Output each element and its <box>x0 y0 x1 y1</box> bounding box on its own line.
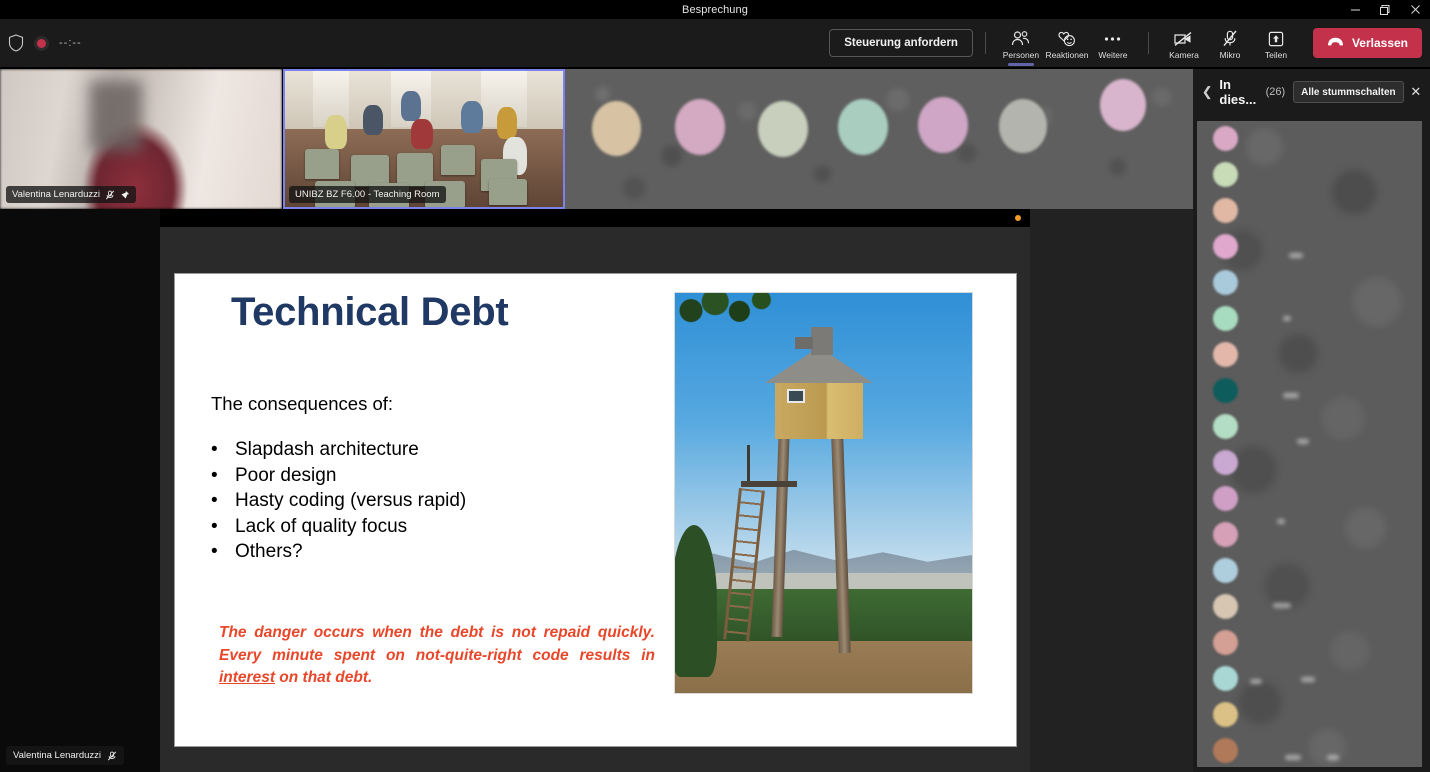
avatar <box>1213 198 1238 223</box>
list-item[interactable] <box>1197 445 1422 481</box>
list-item[interactable] <box>1197 301 1422 337</box>
people-panel-header: ❮ In dies... (26) Alle stummschalten ✕ <box>1193 69 1430 115</box>
share-screen-icon <box>1268 30 1284 48</box>
toolbar-item-reaktionen[interactable]: Reaktionen <box>1044 27 1090 60</box>
stage-right-gutter <box>1030 209 1193 772</box>
list-item: •Others? <box>211 539 466 565</box>
toolbar-item-label: Weitere <box>1098 50 1127 60</box>
toolbar-item-mikro[interactable]: Mikro <box>1207 27 1253 60</box>
self-name-badge: Valentina Lenarduzzi <box>6 746 124 765</box>
avatar <box>999 99 1047 153</box>
avatar <box>1213 126 1238 151</box>
list-item: •Poor design <box>211 463 466 489</box>
people-icon <box>1011 30 1030 48</box>
list-item[interactable] <box>1197 661 1422 697</box>
bullet-icon: • <box>211 437 235 463</box>
avatar <box>592 101 641 156</box>
toolbar-item-label: Personen <box>1003 50 1039 60</box>
toolbar-item-label: Teilen <box>1265 50 1287 60</box>
reactions-icon <box>1057 30 1076 48</box>
slide-lead-text: The consequences of: <box>211 393 393 415</box>
toolbar-device-buttons: Kamera Mikro <box>1161 27 1299 60</box>
phone-hangup-icon <box>1327 36 1344 50</box>
avatar <box>758 101 808 157</box>
list-item[interactable] <box>1197 481 1422 517</box>
pin-icon <box>120 190 130 200</box>
avatar <box>1213 522 1238 547</box>
presentation-slide[interactable]: Technical Debt The consequences of: •Sla… <box>174 273 1017 747</box>
list-item[interactable] <box>1197 409 1422 445</box>
avatar <box>1213 342 1238 367</box>
toolbar-item-label: Mikro <box>1220 50 1241 60</box>
request-control-button[interactable]: Steuerung anfordern <box>829 29 973 57</box>
list-item: •Lack of quality focus <box>211 514 466 540</box>
people-panel-title: In dies... <box>1219 77 1259 107</box>
toolbar-panel-buttons: Personen Reaktionen <box>998 27 1136 60</box>
bullet-icon: • <box>211 463 235 489</box>
video-tile-label: Valentina Lenarduzzi <box>12 189 100 200</box>
toolbar-item-weitere[interactable]: Weitere <box>1090 27 1136 60</box>
callout-part-2: on that debt. <box>275 669 372 686</box>
list-item[interactable] <box>1197 733 1422 767</box>
bullet-icon: • <box>211 514 235 540</box>
meeting-toolbar: --:-- Steuerung anfordern Personen <box>0 19 1430 67</box>
window-title: Besprechung <box>682 4 748 16</box>
video-feed-shadow <box>90 81 142 151</box>
mic-off-icon <box>105 190 115 200</box>
list-item[interactable] <box>1197 121 1422 157</box>
toolbar-divider-1 <box>985 32 986 54</box>
list-item: •Slapdash architecture <box>211 437 466 463</box>
shared-content-stage: Technical Debt The consequences of: •Sla… <box>0 209 1193 772</box>
list-item[interactable] <box>1197 265 1422 301</box>
avatar <box>1213 702 1238 727</box>
list-item[interactable] <box>1197 589 1422 625</box>
toolbar-divider-2 <box>1148 32 1149 54</box>
list-item-label: Lack of quality focus <box>235 514 407 540</box>
avatar <box>675 99 725 155</box>
video-tile-name-badge: UNIBZ BZ F6.00 - Teaching Room <box>289 186 446 203</box>
list-item: •Hasty coding (versus rapid) <box>211 488 466 514</box>
shared-window-frame: Technical Debt The consequences of: •Sla… <box>160 227 1030 772</box>
self-name-label: Valentina Lenarduzzi <box>13 750 101 761</box>
toolbar-item-label: Kamera <box>1169 50 1199 60</box>
avatar <box>1213 306 1238 331</box>
slide-title: Technical Debt <box>231 290 508 335</box>
participant-roster[interactable] <box>1197 121 1422 767</box>
list-item[interactable] <box>1197 229 1422 265</box>
avatar <box>1213 558 1238 583</box>
list-item[interactable] <box>1197 553 1422 589</box>
avatar <box>1100 79 1146 131</box>
stage-left-gutter <box>0 209 160 772</box>
list-item[interactable] <box>1197 193 1422 229</box>
list-item[interactable] <box>1197 697 1422 733</box>
chevron-left-icon[interactable]: ❮ <box>1201 84 1213 100</box>
video-tile-speaker[interactable]: Valentina Lenarduzzi <box>0 69 282 209</box>
avatar-tiles-strip[interactable] <box>565 69 1193 209</box>
list-item[interactable] <box>1197 337 1422 373</box>
avatar <box>1213 630 1238 655</box>
list-item[interactable] <box>1197 517 1422 553</box>
slide-photo <box>674 292 973 694</box>
avatar <box>1213 450 1238 475</box>
callout-part-1: The danger occurs when the debt is not r… <box>219 624 655 664</box>
restore-button[interactable] <box>1370 0 1400 19</box>
avatar <box>1213 378 1238 403</box>
participant-count: (26) <box>1266 86 1286 98</box>
window-titlebar: Besprechung <box>0 0 1430 19</box>
list-item-label: Others? <box>235 539 303 565</box>
list-item[interactable] <box>1197 373 1422 409</box>
window-controls <box>1340 0 1430 19</box>
mic-off-icon <box>1222 30 1238 48</box>
avatar <box>1213 594 1238 619</box>
avatar <box>1213 270 1238 295</box>
avatar <box>918 97 968 153</box>
more-ellipsis-icon <box>1103 30 1122 48</box>
people-panel: ❮ In dies... (26) Alle stummschalten ✕ <box>1193 69 1430 772</box>
shield-icon[interactable] <box>8 34 24 52</box>
avatar <box>838 99 888 155</box>
slide-callout-text: The danger occurs when the debt is not r… <box>219 622 655 690</box>
close-button[interactable] <box>1400 0 1430 19</box>
list-item-label: Slapdash architecture <box>235 437 419 463</box>
video-tile-teaching-room[interactable]: UNIBZ BZ F6.00 - Teaching Room <box>283 69 565 209</box>
list-item[interactable] <box>1197 625 1422 661</box>
bullet-icon: • <box>211 539 235 565</box>
toolbar-item-kamera[interactable]: Kamera <box>1161 27 1207 60</box>
toolbar-item-label: Reaktionen <box>1045 50 1088 60</box>
list-item-label: Hasty coding (versus rapid) <box>235 488 466 514</box>
leave-call-button[interactable]: Verlassen <box>1313 28 1422 58</box>
shared-window-topbar <box>160 209 1030 227</box>
avatar <box>1213 162 1238 187</box>
toolbar-left-group: --:-- <box>8 19 82 67</box>
mic-off-icon <box>107 751 117 761</box>
avatar <box>1213 414 1238 439</box>
participant-filmstrip: Valentina Lenarduzzi <box>0 69 1193 209</box>
avatar <box>1213 738 1238 763</box>
list-item[interactable] <box>1197 157 1422 193</box>
leave-label: Verlassen <box>1352 36 1408 50</box>
list-item-label: Poor design <box>235 463 336 489</box>
bullet-icon: • <box>211 488 235 514</box>
minimize-button[interactable] <box>1340 0 1370 19</box>
video-tile-name-badge: Valentina Lenarduzzi <box>6 186 136 203</box>
toolbar-right-group: Steuerung anfordern Personen <box>829 19 1422 67</box>
toolbar-item-personen[interactable]: Personen <box>998 27 1044 60</box>
toolbar-item-teilen[interactable]: Teilen <box>1253 27 1299 60</box>
close-icon[interactable]: ✕ <box>1410 84 1422 100</box>
sharing-indicator-icon <box>1015 215 1021 221</box>
avatar <box>1213 486 1238 511</box>
avatar <box>1213 666 1238 691</box>
teams-meeting-window: Besprechung <box>0 0 1430 772</box>
meeting-timer: --:-- <box>59 37 82 49</box>
camera-off-icon <box>1173 30 1195 48</box>
avatar <box>1213 234 1238 259</box>
video-tile-label: UNIBZ BZ F6.00 - Teaching Room <box>295 189 440 200</box>
recording-indicator-icon <box>34 36 49 51</box>
mute-all-button[interactable]: Alle stummschalten <box>1293 81 1403 103</box>
callout-underlined-word: interest <box>219 669 275 686</box>
slide-bullet-list: •Slapdash architecture •Poor design •Has… <box>211 437 466 565</box>
